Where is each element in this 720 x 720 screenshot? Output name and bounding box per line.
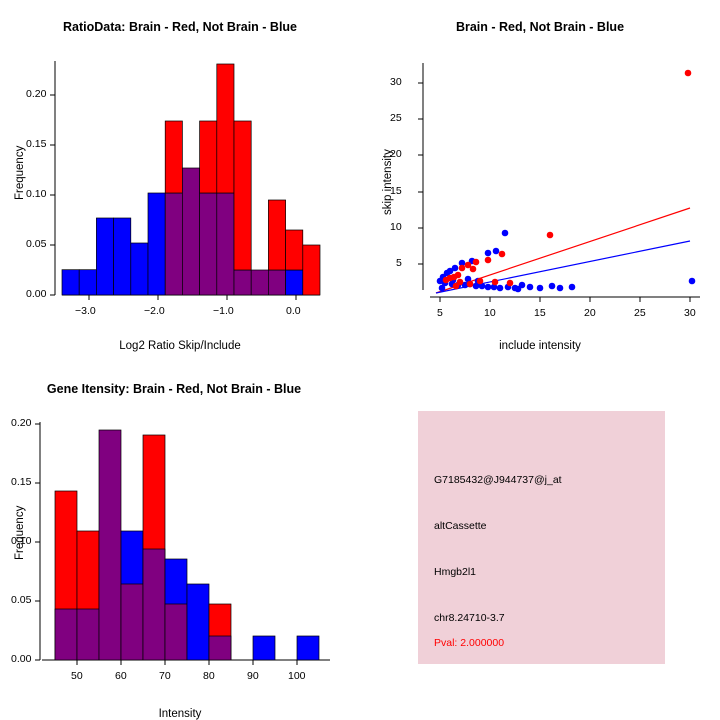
gene-histogram-xlabel: Intensity bbox=[0, 708, 360, 720]
ratio-ytick-0.15: 0.15 bbox=[26, 138, 46, 150]
gene-y-ticks bbox=[35, 424, 40, 660]
scatter-xtick-15: 15 bbox=[534, 307, 546, 319]
ratio-ytick-0.20: 0.20 bbox=[26, 88, 46, 100]
scatter-xtick-25: 25 bbox=[634, 307, 646, 319]
ratio-xtick-0.0: 0.0 bbox=[286, 305, 301, 317]
scatter-ytick-15: 15 bbox=[390, 185, 402, 197]
info-event-type: altCassette bbox=[434, 520, 487, 532]
scatter-y-ticks bbox=[418, 83, 423, 264]
scatter-fit-line-brain bbox=[436, 208, 690, 293]
scatter-x-ticks bbox=[440, 297, 690, 302]
ratio-ytick-0.00: 0.00 bbox=[26, 288, 46, 300]
gene-ytick-0.00: 0.00 bbox=[11, 653, 31, 665]
panel-ratio-histogram: RatioData: Brain - Red, Not Brain - Blue… bbox=[0, 0, 360, 360]
gene-xtick-100: 100 bbox=[288, 670, 306, 682]
ratio-hist-bars bbox=[62, 64, 320, 295]
ratio-y-ticks bbox=[50, 95, 55, 295]
scatter-ytick-5: 5 bbox=[396, 257, 402, 269]
info-box bbox=[418, 411, 665, 664]
gene-xtick-80: 80 bbox=[203, 670, 215, 682]
gene-hist-bars bbox=[55, 430, 319, 660]
panel-info: G7185432@J944737@j_at altCassette Hmgb2l… bbox=[360, 360, 720, 720]
scatter-xtick-5: 5 bbox=[437, 307, 443, 319]
scatter-ytick-20: 20 bbox=[390, 148, 402, 160]
gene-xtick-50: 50 bbox=[71, 670, 83, 682]
info-locus: chr8.24710-3.7 bbox=[434, 612, 505, 624]
scatter-xtick-20: 20 bbox=[584, 307, 596, 319]
ratio-ytick-0.05: 0.05 bbox=[26, 238, 46, 250]
info-probeset-id: G7185432@J944737@j_at bbox=[434, 474, 562, 486]
gene-ytick-0.20: 0.20 bbox=[11, 417, 31, 429]
scatter-ytick-30: 30 bbox=[390, 76, 402, 88]
gene-xtick-90: 90 bbox=[247, 670, 259, 682]
ratio-xtick--2.0: −2.0 bbox=[144, 305, 165, 317]
gene-ytick-0.10: 0.10 bbox=[11, 535, 31, 547]
ratio-xtick--3.0: −3.0 bbox=[75, 305, 96, 317]
gene-histogram-plot bbox=[0, 365, 360, 705]
scatter-xtick-30: 30 bbox=[684, 307, 696, 319]
scatter-ytick-25: 25 bbox=[390, 112, 402, 124]
ratio-xtick--1.0: −1.0 bbox=[213, 305, 234, 317]
gene-ytick-0.15: 0.15 bbox=[11, 476, 31, 488]
scatter-xtick-10: 10 bbox=[484, 307, 496, 319]
ratio-histogram-xlabel: Log2 Ratio Skip/Include bbox=[0, 340, 360, 352]
ratio-histogram-plot bbox=[0, 5, 360, 335]
panel-intensity-scatter: Brain - Red, Not Brain - Blue skip inten… bbox=[360, 0, 720, 360]
gene-xtick-70: 70 bbox=[159, 670, 171, 682]
scatter-ytick-10: 10 bbox=[390, 221, 402, 233]
scatter-plot bbox=[360, 5, 720, 335]
info-gene-symbol: Hmgb2l1 bbox=[434, 566, 476, 578]
ratio-x-ticks bbox=[89, 295, 296, 300]
scatter-xlabel: include intensity bbox=[360, 340, 720, 352]
scatter-points-brain bbox=[443, 70, 692, 290]
gene-x-ticks bbox=[77, 660, 297, 665]
gene-ytick-0.05: 0.05 bbox=[11, 594, 31, 606]
gene-xtick-60: 60 bbox=[115, 670, 127, 682]
info-pval: Pval: 2.000000 bbox=[434, 637, 504, 649]
panel-gene-histogram: Gene Itensity: Brain - Red, Not Brain - … bbox=[0, 360, 360, 720]
ratio-ytick-0.10: 0.10 bbox=[26, 188, 46, 200]
figure-page: RatioData: Brain - Red, Not Brain - Blue… bbox=[0, 0, 720, 720]
